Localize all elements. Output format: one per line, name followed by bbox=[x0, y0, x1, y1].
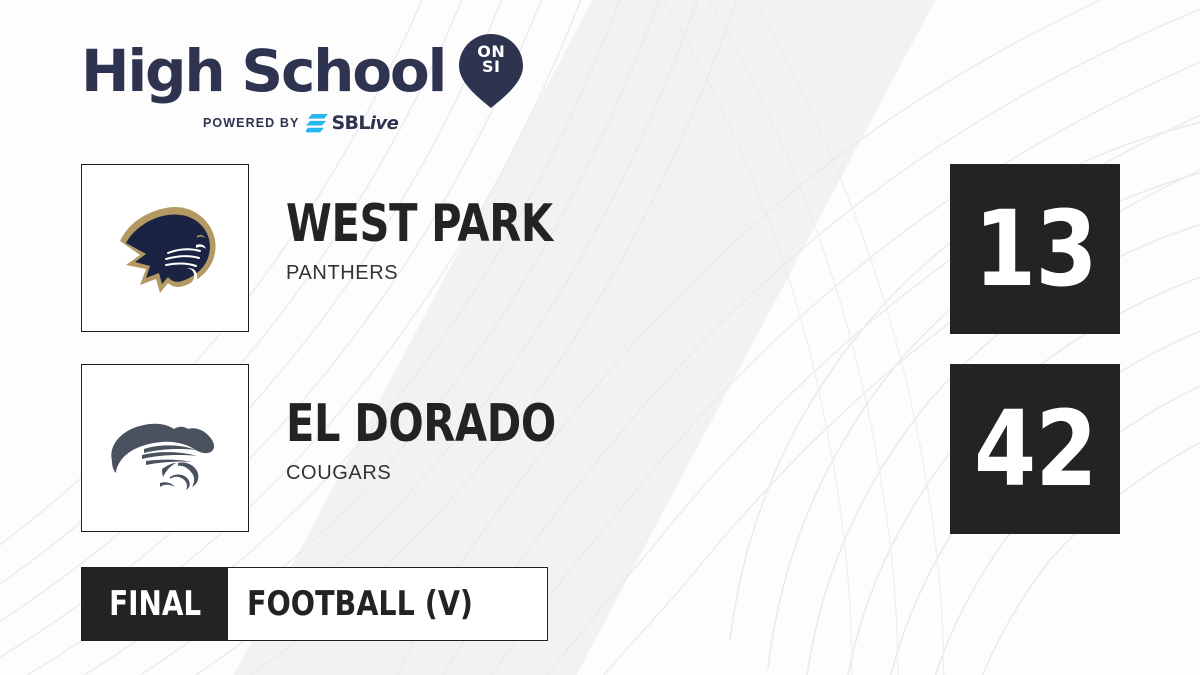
pin-label-line2: SI bbox=[459, 59, 523, 74]
cougar-head-logo bbox=[100, 383, 230, 513]
team-score-box: 42 bbox=[950, 364, 1120, 534]
sblive-s-icon bbox=[306, 114, 328, 133]
team-mascot: COUGARS bbox=[286, 462, 623, 485]
status-badge-label: FINAL bbox=[109, 584, 201, 624]
sblive-suffix: ive bbox=[370, 113, 398, 134]
team-score: 13 bbox=[974, 197, 1097, 301]
sblive-wordmark: SBLive bbox=[331, 112, 398, 134]
sblive-logo: SBLive bbox=[306, 112, 398, 134]
team-logo-card bbox=[81, 164, 249, 332]
location-pin-icon: ON SI bbox=[459, 34, 523, 108]
brand-header: High School ON SI POWERED BY bbox=[81, 34, 523, 134]
team-mascot: PANTHERS bbox=[286, 262, 619, 285]
team-score: 42 bbox=[974, 397, 1097, 501]
sport-label-container: FOOTBALL (V) bbox=[228, 568, 547, 640]
team-text: EL DORADO COUGARS bbox=[286, 398, 623, 485]
team-name: WEST PARK bbox=[286, 198, 553, 250]
team-logo-card bbox=[81, 364, 249, 532]
sport-label: FOOTBALL (V) bbox=[247, 584, 473, 624]
team-text: WEST PARK PANTHERS bbox=[286, 198, 619, 285]
status-badge: FINAL bbox=[82, 568, 228, 640]
powered-by-label: POWERED BY bbox=[203, 116, 299, 130]
wordmark-text: High School bbox=[81, 42, 445, 100]
sblive-main: SBL bbox=[331, 112, 369, 134]
team-name: EL DORADO bbox=[286, 398, 556, 450]
panther-head-logo bbox=[100, 183, 230, 313]
pin-label: ON SI bbox=[459, 44, 523, 74]
team-score-box: 13 bbox=[950, 164, 1120, 334]
scoreboard-graphic: High School ON SI POWERED BY bbox=[0, 0, 1200, 675]
high-school-on-si-logo: High School ON SI bbox=[81, 34, 523, 108]
powered-by-row: POWERED BY SBLive bbox=[203, 112, 523, 134]
game-status-bar: FINAL FOOTBALL (V) bbox=[81, 567, 548, 641]
